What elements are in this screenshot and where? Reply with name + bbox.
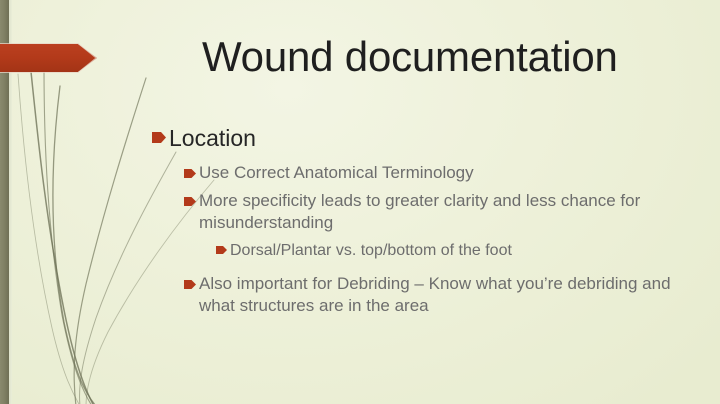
bullet-item-dorsal-plantar: Dorsal/Plantar vs. top/bottom of the foo… [152,240,682,261]
bullet-item-terminology: Use Correct Anatomical Terminology [152,162,682,184]
bullet-text: Use Correct Anatomical Terminology [199,162,682,184]
bullet-text: Location [169,124,682,152]
slide-title: Wound documentation [202,31,702,83]
bullet-item-specificity: More specificity leads to greater clarit… [152,190,682,234]
arrow-bullet-marker [184,169,196,178]
arrow-bullet-marker [184,197,196,206]
arrow-bullet-marker [152,132,166,143]
bullet-item-debriding: Also important for Debriding – Know what… [152,273,682,317]
left-band-edge [9,0,12,404]
bullet-text: Dorsal/Plantar vs. top/bottom of the foo… [230,240,682,261]
slide-canvas: Wound documentation Location Use Correct… [0,0,720,404]
olive-left-band [0,0,9,404]
bullet-text: Also important for Debriding – Know what… [199,273,682,317]
arrow-bullet-marker [216,246,227,254]
bullet-item-location: Location [152,124,682,152]
arrow-bullet-marker [184,280,196,289]
bullet-text: More specificity leads to greater clarit… [199,190,682,234]
bullet-list: Location Use Correct Anatomical Terminol… [152,124,682,323]
